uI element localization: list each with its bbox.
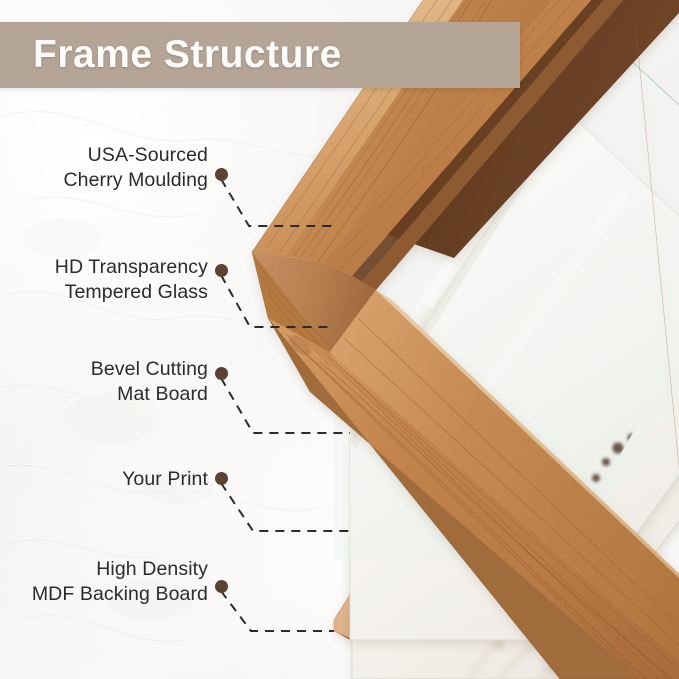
callout-dot-tempered-glass[interactable] <box>215 264 228 277</box>
callout-dot-your-print[interactable] <box>215 472 228 485</box>
callout-label-your-print: Your Print <box>122 467 208 492</box>
callout-label-tempered-glass: HD Transparency Tempered Glass <box>55 255 208 305</box>
callout-label-mdf-backing: High Density MDF Backing Board <box>32 557 208 607</box>
frame-structure-infographic: Frame Structure USA-Sourced Cherry Mould… <box>0 0 679 679</box>
callout-label-cherry-moulding: USA-Sourced Cherry Moulding <box>63 143 208 193</box>
callout-label-mat-board: Bevel Cutting Mat Board <box>91 357 208 407</box>
callout-dot-mdf-backing[interactable] <box>215 580 228 593</box>
callout-dot-mat-board[interactable] <box>215 367 228 380</box>
page-title: Frame Structure <box>33 22 342 88</box>
callout-dot-cherry-moulding[interactable] <box>215 168 228 181</box>
